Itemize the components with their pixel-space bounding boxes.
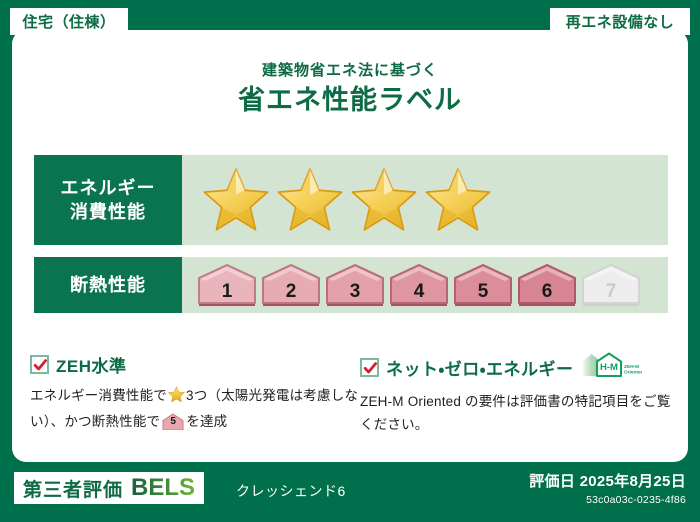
row-energy-label: エネルギー 消費性能: [34, 155, 182, 245]
row-energy-performance: エネルギー 消費性能: [34, 155, 668, 245]
inline-badge-icon: 5: [162, 413, 184, 430]
zeh-desc-part1: エネルギー消費性能で: [30, 388, 167, 403]
zeh-heading: ZEH水準: [30, 352, 360, 377]
check-icon: [363, 361, 378, 376]
insulation-badge-2: 2: [260, 263, 322, 307]
zeh-checkbox[interactable]: [30, 355, 49, 374]
info-column-zeh: ZEH水準 エネルギー消費性能で3つ（太陽光発電は考慮しない）、かつ断熱性能で5…: [30, 352, 360, 436]
bels-plate: 第三者評価 BELS: [14, 472, 204, 504]
tag-building-type: 住宅（住棟）: [10, 8, 128, 35]
zeh-logo-caption2: Oriented: [624, 370, 642, 376]
info-column-net-zero: ネット・ゼロ・エネルギー H-M ZEH-M: [360, 352, 675, 436]
star-rating: [182, 155, 668, 245]
insulation-badge-4: 4: [388, 263, 450, 307]
net-zero-title: ネット・ゼロ・エネルギー: [386, 355, 574, 380]
label-subtitle: 建築物省エネ法に基づく: [0, 62, 700, 80]
check-icon: [33, 358, 48, 373]
insulation-badge-number: 3: [324, 281, 386, 303]
insulation-badge-number: 7: [580, 281, 642, 303]
star-icon: [276, 167, 344, 233]
bels-logo-text: BELS: [131, 474, 195, 502]
row-insulation-performance: 断熱性能 1234567: [34, 257, 668, 313]
insulation-scale: 1234567: [182, 257, 668, 313]
label-footer: 第三者評価 BELS クレッシェンド6 評価日 2025年8月25日 53c0a…: [0, 462, 700, 522]
insulation-badge-5: 5: [452, 263, 514, 307]
row-insulation-label: 断熱性能: [34, 257, 182, 313]
rating-rows: エネルギー 消費性能 断熱性能 1234567: [34, 155, 668, 325]
insulation-badge-6: 6: [516, 263, 578, 307]
insulation-badge-number: 5: [452, 281, 514, 303]
net-zero-checkbox[interactable]: [360, 358, 379, 377]
insulation-badge-number: 2: [260, 281, 322, 303]
building-name: クレッシェンド6: [236, 481, 346, 501]
zeh-description: エネルギー消費性能で3つ（太陽光発電は考慮しない）、かつ断熱性能で5を達成: [30, 384, 360, 433]
zeh-desc-part3: を達成: [186, 414, 227, 429]
star-icon: [350, 167, 418, 233]
zeh-logo-text: H-M: [600, 362, 618, 373]
tag-renewable-status: 再エネ設備なし: [550, 8, 690, 35]
page-title: 省エネ性能ラベル: [0, 83, 700, 118]
insulation-badge-3: 3: [324, 263, 386, 307]
insulation-badge-1: 1: [196, 263, 258, 307]
evaluation-id: 53c0a03c-0235-4f86: [529, 494, 686, 506]
insulation-badge-number: 1: [196, 281, 258, 303]
energy-performance-label: 住宅（住棟） 再エネ設備なし 建築物省エネ法に基づく 省エネ性能ラベル エネルギ…: [0, 0, 700, 522]
inline-star-icon: [168, 386, 185, 410]
insulation-badge-number: 4: [388, 281, 450, 303]
row-insulation-label-line1: 断熱性能: [70, 273, 146, 297]
info-columns: ZEH水準 エネルギー消費性能で3つ（太陽光発電は考慮しない）、かつ断熱性能で5…: [30, 352, 675, 436]
net-zero-heading: ネット・ゼロ・エネルギー H-M ZEH-M: [360, 352, 675, 383]
insulation-badge-7: 7: [580, 263, 642, 307]
zeh-title: ZEH水準: [56, 352, 127, 377]
bels-jp-text: 第三者評価: [23, 475, 123, 502]
insulation-badge-number: 6: [516, 281, 578, 303]
net-zero-description: ZEH-M Oriented の要件は評価書の特記項目をご覧ください。: [360, 390, 675, 436]
inline-badge-number: 5: [162, 413, 184, 430]
row-energy-label-line2: 消費性能: [70, 200, 146, 224]
footer-meta: 評価日 2025年8月25日 53c0a03c-0235-4f86: [529, 470, 686, 506]
title-block: 建築物省エネ法に基づく 省エネ性能ラベル: [0, 62, 700, 118]
evaluation-date: 評価日 2025年8月25日: [529, 470, 686, 491]
star-icon: [424, 167, 492, 233]
zeh-logo-caption1: ZEH-M: [624, 364, 639, 370]
star-icon: [202, 167, 270, 233]
zeh-m-oriented-logo: H-M ZEH-M Oriented: [580, 352, 642, 383]
insulation-badge-list: 1234567: [196, 263, 644, 307]
row-energy-label-line1: エネルギー: [61, 176, 156, 200]
